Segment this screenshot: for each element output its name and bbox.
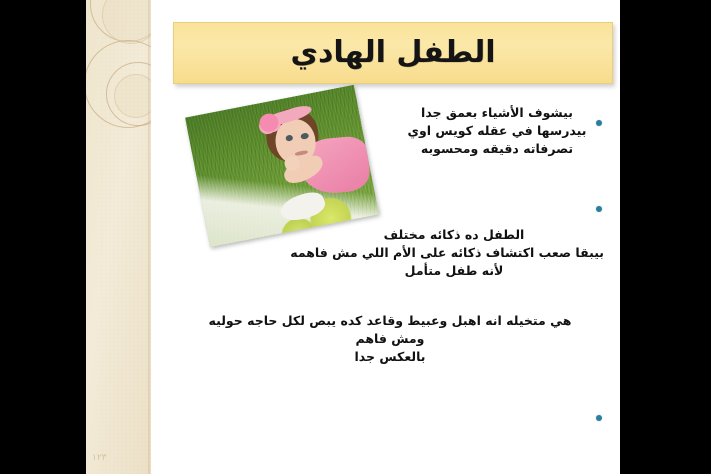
- paragraph-line: لأنه طفل متأمل: [304, 262, 604, 280]
- decorative-ring-icon: [90, 0, 151, 42]
- decorative-ring-icon: [86, 40, 151, 128]
- slide-body-content: بيشوف الأشياء بعمق جدا بيدرسها في عقله ك…: [162, 98, 612, 438]
- page-title: الطفل الهادي: [290, 38, 495, 68]
- bullet-paragraph-1: بيشوف الأشياء بعمق جدا بيدرسها في عقله ك…: [390, 104, 604, 157]
- theme-band-edge: [148, 0, 151, 474]
- bullet-point-icon: [596, 206, 602, 212]
- decorative-ring-icon: [114, 74, 151, 118]
- paragraph-line: الطفل ده ذكائه مختلف: [304, 226, 604, 244]
- slide-theme-band: ١٢٣: [86, 0, 151, 474]
- decorative-ring-icon: [102, 0, 151, 44]
- bullet-paragraph-3: هي متخيله انه اهبل وعبيط وقاعد كده يبص ل…: [176, 312, 604, 365]
- bullet-paragraph-2: الطفل ده ذكائه مختلف بيبقا صعب اكتشاف ذك…: [304, 226, 604, 279]
- paragraph-line: بالعكس جدا: [176, 348, 604, 366]
- letterbox-bar-left: [0, 0, 86, 474]
- paragraph-line: ومش فاهم: [176, 330, 604, 348]
- paragraph-line: هي متخيله انه اهبل وعبيط وقاعد كده يبص ل…: [176, 312, 604, 330]
- bullet-point-icon: [596, 415, 602, 421]
- paragraph-line: تصرفاته دقيقه ومحسوبه: [390, 140, 604, 158]
- paragraph-line: بيدرسها في عقله كويس اوي: [390, 122, 604, 140]
- watermark-text: ١٢٣: [92, 452, 148, 468]
- screenshot-viewport: ١٢٣ الطفل الهادي: [0, 0, 711, 474]
- decorative-ring-icon: [106, 62, 151, 126]
- paragraph-line: بيبقا صعب اكتشاف ذكائه على الأم اللي مش …: [304, 244, 604, 262]
- bullet-point-icon: [596, 120, 602, 126]
- paragraph-line: بيشوف الأشياء بعمق جدا: [390, 104, 604, 122]
- presentation-slide: ١٢٣ الطفل الهادي: [86, 0, 620, 474]
- letterbox-bar-right: [620, 0, 711, 474]
- slide-title-box: الطفل الهادي: [173, 22, 613, 84]
